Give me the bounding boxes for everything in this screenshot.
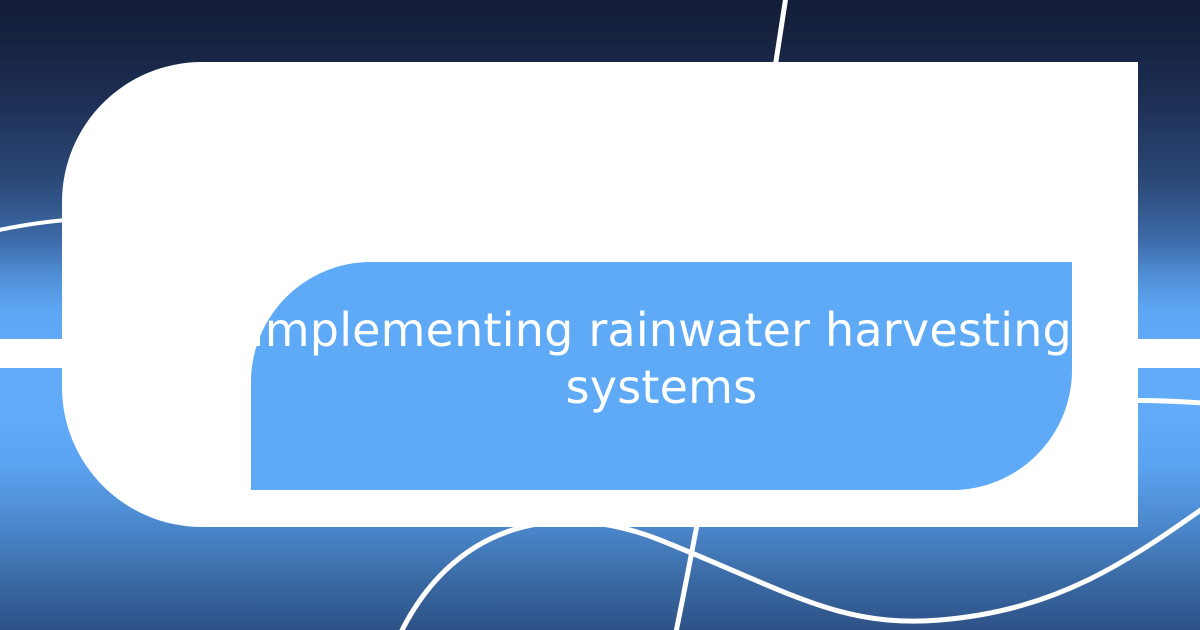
white-content-card: Implementing rainwater harvesting system… xyxy=(62,62,1138,527)
banner-canvas: Implementing rainwater harvesting system… xyxy=(0,0,1200,630)
page-title: Implementing rainwater harvesting system… xyxy=(231,302,1092,416)
blue-title-panel: Implementing rainwater harvesting system… xyxy=(251,262,1072,490)
